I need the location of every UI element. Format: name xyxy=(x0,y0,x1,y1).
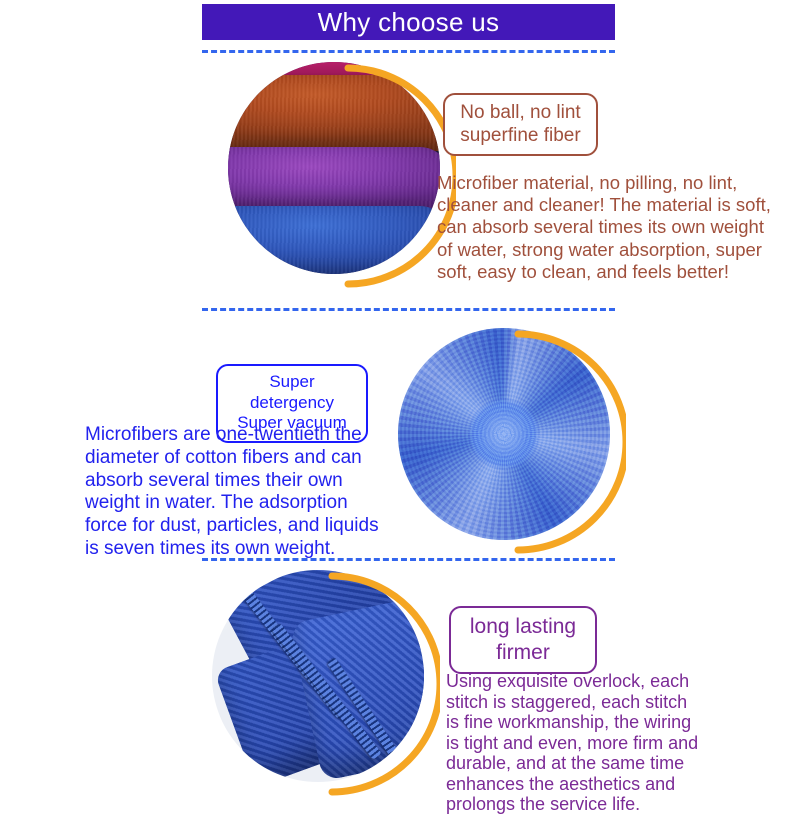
towel-stack-image xyxy=(228,62,440,274)
product-photo-swirled-cloth xyxy=(398,328,626,556)
swirled-microfiber-image xyxy=(398,328,610,540)
body-text-exquisite-overlock: Using exquisite overlock, each stitch is… xyxy=(446,671,746,815)
callout-no-ball-no-lint: No ball, no lint superfine fiber xyxy=(443,93,598,156)
photo-circle-2 xyxy=(398,328,610,540)
body-text-microfibers-diameter: Microfibers are one-twentieth the diamet… xyxy=(85,424,415,561)
photo-circle-3 xyxy=(212,570,424,782)
product-photo-stacked-towels xyxy=(228,62,456,290)
header-banner: Why choose us xyxy=(202,4,615,40)
body-text-microfiber-material: Microfiber material, no pilling, no lint… xyxy=(437,172,789,283)
towel-layer-rust xyxy=(228,75,440,151)
callout-long-lasting-firmer: long lasting firmer xyxy=(449,606,597,674)
swirl-center xyxy=(470,400,538,468)
towel-layer-blue xyxy=(228,206,440,274)
divider-top xyxy=(202,50,615,53)
folded-towel-image xyxy=(212,570,424,782)
towel-layer-purple xyxy=(228,147,440,213)
divider-bottom xyxy=(202,558,615,561)
divider-middle xyxy=(202,308,615,311)
product-photo-overlock-stitching xyxy=(212,570,440,798)
page-title: Why choose us xyxy=(318,9,500,35)
photo-circle-1 xyxy=(228,62,440,274)
